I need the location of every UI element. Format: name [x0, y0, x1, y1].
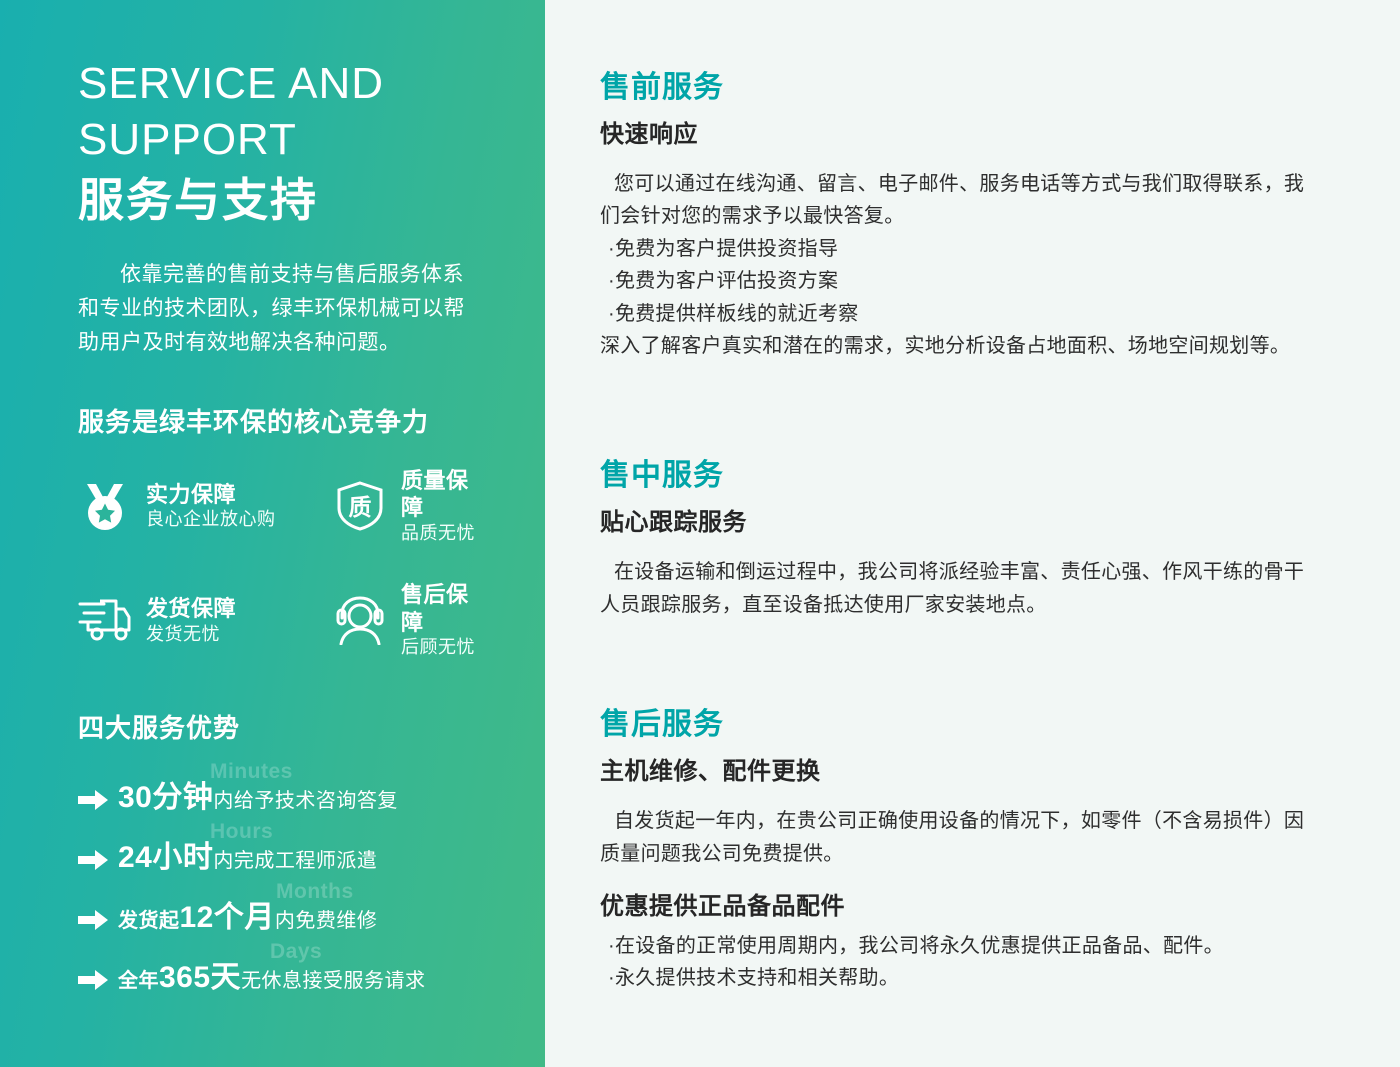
poster-root: SERVICE AND SUPPORT 服务与支持 依靠完善的售前支持与售后服务… — [0, 0, 1400, 1067]
body-paragraph: 自发货起一年内，在贵公司正确使用设备的情况下，如零件（不含易损件）因质量问题我公… — [600, 805, 1320, 870]
guarantee-item: 售后保障 后顾无忧 — [333, 581, 485, 659]
body-paragraph: 在设备运输和倒运过程中，我公司将派经验丰富、责任心强、作风干练的骨干人员跟踪服务… — [600, 556, 1320, 621]
arrow-right-icon — [78, 969, 108, 991]
section-body: ·在设备的正常使用周期内，我公司将永久优惠提供正品备品、配件。 ·永久提供技术支… — [600, 930, 1320, 995]
guarantee-title: 实力保障 — [146, 481, 276, 509]
advantage-watermark: Days — [270, 941, 322, 962]
advantage-number: 365天 — [159, 961, 241, 994]
title-en-line2: SUPPORT — [78, 115, 297, 164]
advantage-item: Minutes 30分钟内给予技术咨询答复 — [78, 761, 485, 815]
guarantee-text: 售后保障 后顾无忧 — [401, 581, 485, 659]
right-panel: 售前服务 快速响应 您可以通过在线沟通、留言、电子邮件、服务电话等方式与我们取得… — [545, 0, 1400, 1067]
advantage-prefix: 全年 — [118, 970, 159, 992]
svg-text:质: 质 — [349, 494, 372, 520]
arrow-right-icon — [78, 789, 108, 811]
advantage-suffix: 内完成工程师派遣 — [213, 850, 377, 872]
guarantee-grid: 实力保障 良心企业放心购 质 质量保障 品质无忧 — [78, 467, 485, 660]
advantage-number: 24小时 — [118, 841, 213, 874]
body-bullet: ·在设备的正常使用周期内，我公司将永久优惠提供正品备品、配件。 — [600, 930, 1320, 962]
body-bullet: ·永久提供技术支持和相关帮助。 — [600, 962, 1320, 994]
section-pre-sales: 售前服务 快速响应 您可以通过在线沟通、留言、电子邮件、服务电话等方式与我们取得… — [600, 70, 1320, 362]
guarantee-text: 实力保障 良心企业放心购 — [146, 481, 276, 532]
intro-paragraph: 依靠完善的售前支持与售后服务体系和专业的技术团队，绿丰环保机械可以帮助用户及时有… — [78, 258, 485, 360]
guarantee-subtitle: 品质无忧 — [401, 522, 485, 545]
guarantee-item: 质 质量保障 品质无忧 — [333, 467, 485, 545]
guarantee-text: 发货保障 发货无忧 — [146, 595, 236, 646]
advantages-heading: 四大服务优势 — [78, 708, 485, 745]
advantage-text: Months 发货起12个月内免费维修 — [118, 903, 377, 935]
guarantee-text: 质量保障 品质无忧 — [401, 467, 485, 545]
page-title-cn: 服务与支持 — [78, 173, 485, 228]
guarantee-subtitle: 后顾无忧 — [401, 636, 485, 659]
body-paragraph: 深入了解客户真实和潜在的需求，实地分析设备占地面积、场地空间规划等。 — [600, 330, 1320, 362]
core-competence-heading: 服务是绿丰环保的核心竞争力 — [78, 402, 485, 439]
guarantee-subtitle: 良心企业放心购 — [146, 508, 276, 531]
guarantee-item: 实力保障 良心企业放心购 — [78, 467, 333, 545]
guarantee-title: 质量保障 — [401, 467, 485, 522]
guarantee-title: 发货保障 — [146, 595, 236, 623]
advantage-text: Minutes 30分钟内给予技术咨询答复 — [118, 783, 398, 815]
guarantee-title: 售后保障 — [401, 581, 485, 636]
arrow-right-icon — [78, 909, 108, 931]
section-body: 您可以通过在线沟通、留言、电子邮件、服务电话等方式与我们取得联系，我们会针对您的… — [600, 168, 1320, 362]
section-subtitle: 主机维修、配件更换 — [600, 757, 1320, 787]
body-bullet: ·免费为客户提供投资指导 — [600, 233, 1320, 265]
arrow-right-icon — [78, 849, 108, 871]
section-after-sales: 售后服务 主机维修、配件更换 自发货起一年内，在贵公司正确使用设备的情况下，如零… — [600, 707, 1320, 995]
advantage-item: Hours 24小时内完成工程师派遣 — [78, 821, 485, 875]
advantage-suffix: 内免费维修 — [275, 910, 378, 932]
advantage-item: Days 全年365天无休息接受服务请求 — [78, 941, 485, 995]
delivery-truck-icon — [78, 593, 132, 647]
guarantee-subtitle: 发货无忧 — [146, 623, 236, 646]
advantage-watermark: Months — [276, 881, 354, 902]
advantage-prefix: 发货起 — [118, 910, 180, 932]
section-subtitle: 快速响应 — [600, 120, 1320, 150]
section-body: 在设备运输和倒运过程中，我公司将派经验丰富、责任心强、作风干练的骨干人员跟踪服务… — [600, 556, 1320, 621]
quality-shield-icon: 质 — [333, 479, 387, 533]
section-subtitle: 贴心跟踪服务 — [600, 508, 1320, 538]
medal-star-icon — [78, 479, 132, 533]
body-bullet: ·免费为客户评估投资方案 — [600, 265, 1320, 297]
page-title-en: SERVICE AND SUPPORT — [78, 56, 485, 169]
section-spacer — [600, 362, 1320, 458]
advantage-text: Hours 24小时内完成工程师派遣 — [118, 843, 377, 875]
section-during-sales: 售中服务 贴心跟踪服务 在设备运输和倒运过程中，我公司将派经验丰富、责任心强、作… — [600, 458, 1320, 621]
after-sales-parts-block: 优惠提供正品备品配件 ·在设备的正常使用周期内，我公司将永久优惠提供正品备品、配… — [600, 892, 1320, 995]
advantages-list: Minutes 30分钟内给予技术咨询答复 Hours 24小时内完成工程师派遣 — [78, 761, 485, 995]
advantage-watermark: Hours — [210, 821, 273, 842]
headset-support-icon — [333, 593, 387, 647]
body-bullet: ·免费提供样板线的就近考察 — [600, 298, 1320, 330]
section-body: 自发货起一年内，在贵公司正确使用设备的情况下，如零件（不含易损件）因质量问题我公… — [600, 805, 1320, 870]
section-subtitle: 优惠提供正品备品配件 — [600, 892, 1320, 922]
section-title: 售前服务 — [600, 70, 1320, 106]
section-title: 售后服务 — [600, 707, 1320, 743]
advantage-suffix: 内给予技术咨询答复 — [213, 790, 398, 812]
section-spacer — [600, 621, 1320, 707]
guarantee-item: 发货保障 发货无忧 — [78, 581, 333, 659]
body-paragraph: 您可以通过在线沟通、留言、电子邮件、服务电话等方式与我们取得联系，我们会针对您的… — [600, 168, 1320, 233]
left-panel: SERVICE AND SUPPORT 服务与支持 依靠完善的售前支持与售后服务… — [0, 0, 545, 1067]
advantage-item: Months 发货起12个月内免费维修 — [78, 881, 485, 935]
section-title: 售中服务 — [600, 458, 1320, 494]
advantage-number: 12个月 — [180, 901, 275, 934]
advantage-suffix: 无休息接受服务请求 — [241, 970, 426, 992]
advantage-number: 30分钟 — [118, 781, 213, 814]
advantage-watermark: Minutes — [210, 761, 293, 782]
title-en-line1: SERVICE AND — [78, 59, 384, 108]
advantage-text: Days 全年365天无休息接受服务请求 — [118, 963, 426, 995]
